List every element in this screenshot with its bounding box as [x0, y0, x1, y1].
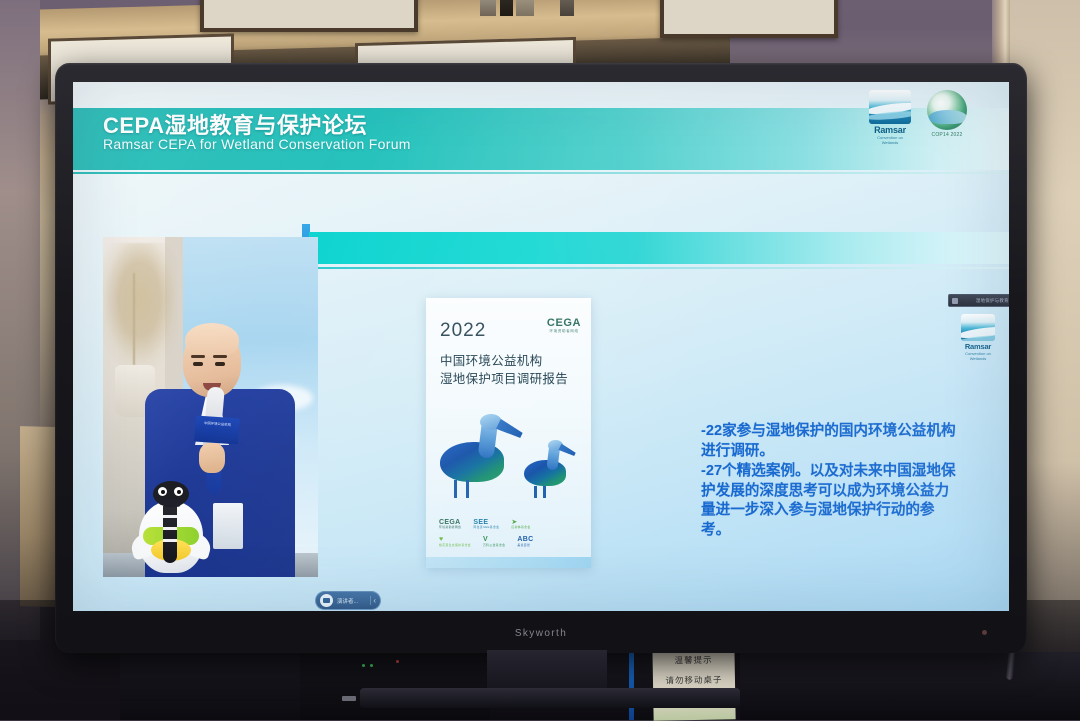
partner-logo-row: CEGA 环境资助者网络 SEE 阿拉善SEE基金会 ➤ 红树林基金会: [439, 519, 579, 530]
body-text-line: 量进一步深入参与湿地保护行动的参: [701, 501, 1009, 521]
pampas-grass-decor: [103, 243, 177, 371]
notice-sign-line1: 温馨提示: [653, 653, 735, 666]
band-underline: [309, 267, 1009, 269]
ramsar-logo: Ramsar Convention on Wetlands: [961, 314, 995, 362]
ramsar-logo-sub: Convention on Wetlands: [869, 135, 911, 146]
blue-light-strip: [629, 652, 634, 720]
monitor-screen-area: CEPA湿地教育与保护论坛 Ramsar CEPA for Wetland Co…: [73, 82, 1009, 611]
partner-logo: V 万科公益基金会: [483, 536, 505, 547]
report-year: 2022: [440, 320, 486, 342]
partner-logo-sub: 环境资助者网络: [439, 526, 461, 529]
report-title-line1: 中国环境公益机构: [440, 350, 542, 369]
monitor-stand-base: [360, 688, 740, 708]
power-led: [982, 630, 987, 635]
bird-legs: [534, 486, 556, 498]
report-partner-logos: CEGA 环境资助者网络 SEE 阿拉善SEE基金会 ➤ 红树林基金会: [439, 519, 579, 555]
cega-logo-sub: 环境资助者网络: [546, 329, 582, 334]
report-title-line2: 湿地保护项目调研报告: [440, 368, 568, 387]
partner-logo: ➤ 红树林基金会: [511, 519, 530, 530]
presenter-eye: [193, 362, 203, 366]
slide-screen: CEPA湿地教育与保护论坛 Ramsar CEPA for Wetland Co…: [73, 82, 1009, 611]
bird-beak: [496, 419, 524, 440]
cop14-logo-sub: COP14 2022: [1007, 350, 1009, 356]
body-text-line: 护发展的深度思考可以成为环境公益力: [701, 482, 1009, 502]
cop14-logo: COP14 2022: [1007, 314, 1009, 356]
body-text-line: 考。: [701, 521, 1009, 541]
book: [480, 0, 496, 16]
presenter-eye: [215, 362, 225, 366]
bird-body: [524, 460, 566, 486]
partner-logo-sub: 美境自然: [517, 544, 533, 547]
ramsar-wave-icon: [869, 90, 911, 124]
microphone-flag-label: 中国环境公益机构: [195, 420, 239, 428]
presenter-scalp: [185, 323, 239, 357]
notice-sign-line2: 请勿移动桌子: [653, 673, 735, 686]
floating-toolbar[interactable]: 湿地保护与教育论坛: [948, 294, 1009, 307]
slide-logos: Ramsar Convention on Wetlands COP14 2022: [961, 314, 1009, 362]
microphone-flag: 中国环境公益机构: [194, 415, 240, 444]
ramsar-logo-sub: Convention on Wetlands: [961, 351, 995, 362]
mascot-eye: [174, 487, 183, 496]
body-text-line: -22家参与湿地保护的国内环境公益机构: [701, 422, 1009, 442]
ramsar-logo-name: Ramsar: [869, 125, 911, 135]
mascot-eye: [158, 487, 167, 496]
presenter-video-panel[interactable]: 中国环境公益机构: [103, 237, 318, 577]
camera-icon: [320, 594, 333, 607]
bird-mascot-plush: [133, 481, 209, 577]
monitor: Skyworth CEPA湿地教育与保护论坛 Ramsar CEPA for W…: [55, 63, 1027, 653]
book: [516, 0, 534, 16]
cop14-globe-icon: [927, 90, 967, 130]
partner-logo: ♥ 桃花源生态保护基金会: [439, 536, 471, 547]
partner-logo-sub: 阿拉善SEE基金会: [473, 526, 499, 529]
floating-toolbar-label: 湿地保护与教育论坛: [961, 298, 1009, 304]
cega-logo: CEGA 环境资助者网络: [546, 317, 582, 334]
presenter-hand: [199, 443, 225, 473]
partner-logo-sub: 红树林基金会: [511, 526, 530, 529]
presenter-brow: [191, 355, 205, 358]
partner-logo: CEGA 环境资助者网络: [439, 519, 461, 530]
device-slot: [342, 696, 356, 701]
bird-beak: [558, 444, 576, 458]
presenter-view-toggle[interactable]: 演讲者... ‹: [315, 591, 381, 610]
right-dark-area: [740, 652, 1080, 720]
collapse-chevron-icon[interactable]: ‹: [370, 596, 376, 605]
grid-icon[interactable]: [952, 298, 958, 304]
cega-logo-name: CEGA: [546, 317, 582, 329]
body-text-line: 进行调研。: [701, 442, 1009, 462]
monitor-brand-label: Skyworth: [55, 628, 1027, 639]
ramsar-logo: Ramsar Convention on Wetlands: [869, 90, 911, 146]
partner-logo-row: ♥ 桃花源生态保护基金会 V 万科公益基金会 ABC 美境自然: [439, 536, 579, 547]
scene-root: 温馨提示 请勿移动桌子 Skyworth CEPA湿地教育与保护论坛 Ramsa…: [0, 0, 1080, 720]
partner-logo-sub: 桃花源生态保护基金会: [439, 544, 471, 547]
cover-bottom-strip: [426, 557, 591, 568]
partner-logo-sub: 万科公益基金会: [483, 544, 505, 547]
presenter-badge: [213, 503, 243, 549]
ramsar-wave-icon: [961, 314, 995, 341]
presenter-view-label: 演讲者...: [337, 597, 366, 605]
partner-logo: ABC 美境自然: [517, 536, 533, 547]
header-logos: Ramsar Convention on Wetlands COP14 2022: [869, 90, 969, 146]
bird-legs: [454, 480, 476, 498]
framed-picture: [660, 0, 838, 38]
bird-large: [440, 414, 526, 498]
status-led: [370, 664, 373, 667]
book: [500, 0, 513, 16]
equipment-tower: [300, 652, 490, 720]
teal-accent-band: [309, 232, 1009, 264]
body-text-line: -27个精选案例。以及对未来中国湿地保: [701, 462, 1009, 482]
framed-picture: [200, 0, 418, 32]
cop14-logo-sub: COP14 2022: [925, 132, 969, 138]
bird-small: [524, 440, 578, 498]
ramsar-logo-name: Ramsar: [961, 342, 995, 351]
status-led: [362, 664, 365, 667]
book: [560, 0, 574, 16]
report-cover-image: 2022 中国环境公益机构 湿地保护项目调研报告 CEGA 环境资助者网络: [426, 298, 591, 568]
slide-body-text: -22家参与湿地保护的国内环境公益机构 进行调研。 -27个精选案例。以及对未来…: [701, 422, 1009, 541]
header-title-en: Ramsar CEPA for Wetland Conservation For…: [103, 136, 411, 152]
status-led: [396, 660, 399, 663]
notice-sign: 温馨提示 请勿移动桌子: [652, 643, 735, 720]
presenter-brow: [213, 355, 227, 358]
cop14-logo: COP14 2022: [925, 90, 969, 138]
bird-illustration: [436, 408, 581, 500]
partner-logo: SEE 阿拉善SEE基金会: [473, 519, 499, 530]
